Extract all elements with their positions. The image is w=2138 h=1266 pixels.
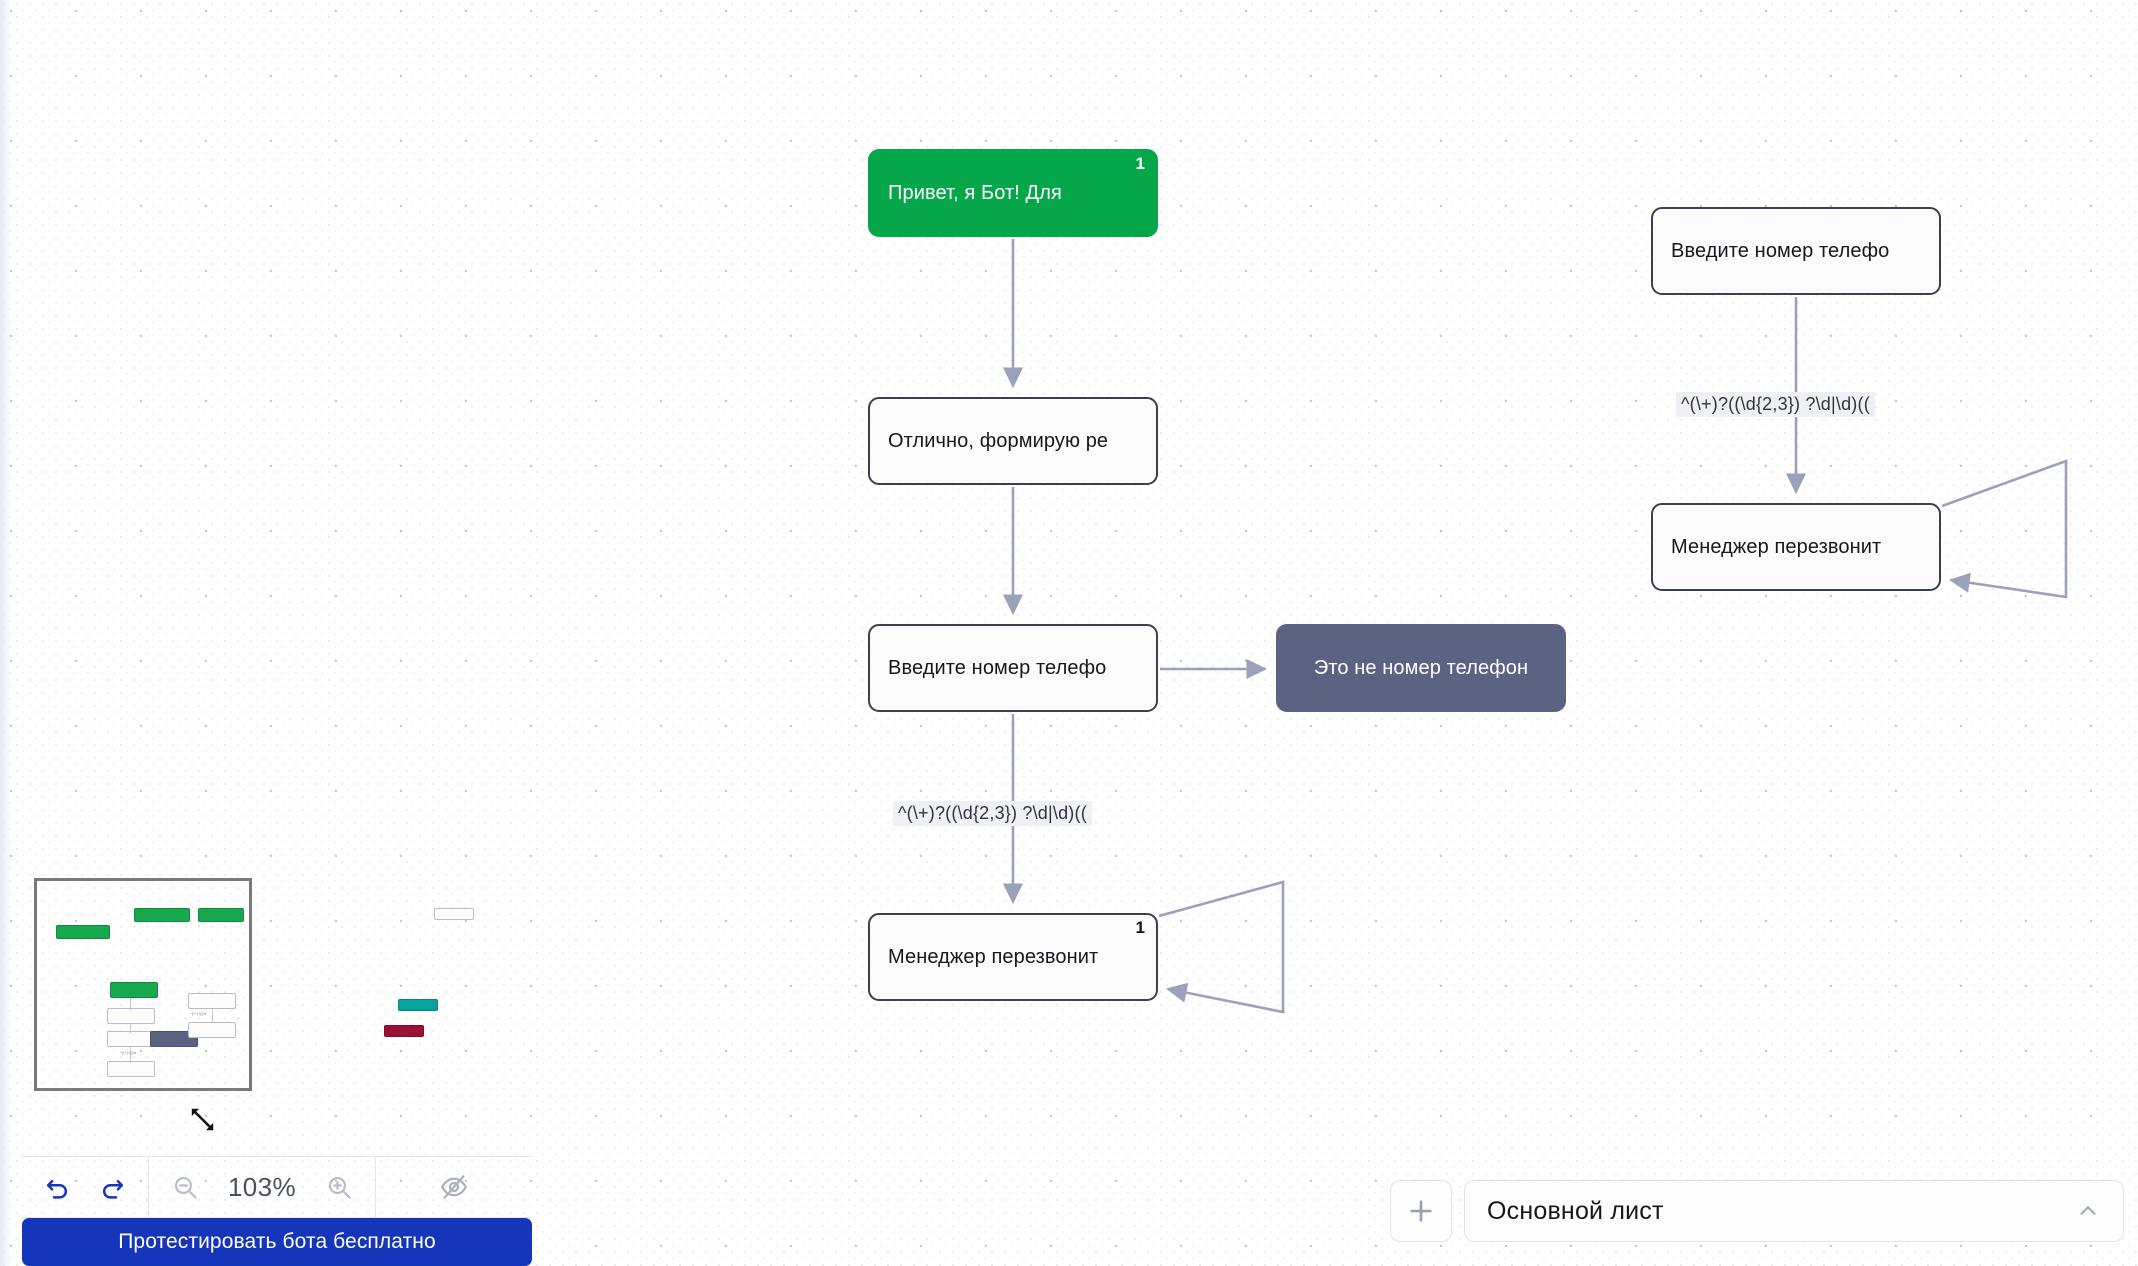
node-forming[interactable]: Отлично, формирую ре (868, 397, 1158, 485)
node-label: Введите номер телефо (888, 656, 1106, 680)
test-bot-button[interactable]: Протестировать бота бесплатно (22, 1218, 532, 1266)
minimap-node (188, 993, 236, 1009)
node-label: Это не номер телефон (1314, 656, 1528, 680)
node-badge: 1 (1135, 919, 1145, 936)
node-label: Отлично, формирую ре (888, 429, 1108, 453)
node-manager-main[interactable]: 1 Менеджер перезвонит (868, 913, 1158, 1001)
node-label: Привет, я Бот! Для (888, 181, 1062, 205)
sheet-bar: Основной лист (1390, 1180, 2124, 1242)
zoom-out-button[interactable] (165, 1167, 205, 1207)
node-badge: 1 (1135, 155, 1145, 172)
undo-icon (44, 1173, 72, 1201)
minimap-node (107, 1008, 155, 1024)
minimap-edge-label: ^(\+)?((\d (190, 1011, 206, 1016)
minimap-node (198, 908, 244, 922)
minimap-node (56, 925, 110, 939)
chevron-up-icon[interactable] (2075, 1198, 2101, 1224)
edge-label-regex-right[interactable]: ^(\+)?((\d{2,3}) ?\d|\d)(( (1676, 392, 1875, 417)
plus-icon (1406, 1196, 1436, 1226)
eye-off-icon (439, 1172, 469, 1202)
minimap-node (110, 982, 158, 998)
minimap-edge (212, 1009, 213, 1022)
node-start[interactable]: 1 Привет, я Бот! Для (868, 149, 1158, 237)
zoom-in-icon (326, 1174, 353, 1201)
redo-button[interactable] (92, 1167, 132, 1207)
node-phone-right[interactable]: Введите номер телефо (1651, 207, 1941, 295)
history-group (22, 1157, 148, 1217)
sheet-name-label: Основной лист (1487, 1197, 2075, 1226)
minimap-edge-label: ^(\+)?((\d (120, 1050, 136, 1055)
resize-cursor-icon (188, 1105, 220, 1137)
sheet-selector[interactable]: Основной лист (1464, 1180, 2124, 1242)
visibility-group (375, 1157, 532, 1217)
minimap-node (188, 1022, 236, 1038)
node-not-a-phone[interactable]: Это не номер телефон (1276, 624, 1566, 712)
minimap-node (134, 908, 190, 922)
edge-label-regex-main[interactable]: ^(\+)?((\d{2,3}) ?\d|\d)(( (893, 801, 1092, 826)
node-label: Менеджер перезвонит (1671, 535, 1881, 559)
minimap-node (384, 1025, 424, 1037)
canvas-toolbar: 103% (22, 1156, 532, 1218)
node-phone-main[interactable]: Введите номер телефо (868, 624, 1158, 712)
minimap-node (107, 1031, 155, 1047)
minimap-node (107, 1061, 155, 1077)
minimap-node (398, 999, 438, 1011)
zoom-out-icon (172, 1174, 199, 1201)
redo-icon (98, 1173, 126, 1201)
zoom-level-label: 103% (219, 1172, 305, 1203)
bottom-left-panel: ^(\+)?((\d ^(\+)?((\d (22, 853, 532, 1266)
undo-button[interactable] (38, 1167, 78, 1207)
node-manager-right[interactable]: Менеджер перезвонит (1651, 503, 1941, 591)
minimap-edge (130, 1024, 131, 1033)
minimap-edge (130, 998, 131, 1010)
minimap[interactable]: ^(\+)?((\d ^(\+)?((\d (22, 853, 532, 1156)
node-label: Введите номер телефо (1671, 239, 1889, 263)
zoom-group: 103% (148, 1157, 375, 1217)
zoom-in-button[interactable] (319, 1167, 359, 1207)
add-sheet-button[interactable] (1390, 1180, 1452, 1242)
node-label: Менеджер перезвонит (888, 945, 1098, 969)
flow-editor-app: 1 Привет, я Бот! Для Отлично, формирую р… (0, 0, 2138, 1266)
minimap-node (434, 908, 474, 920)
hide-elements-button[interactable] (434, 1167, 474, 1207)
